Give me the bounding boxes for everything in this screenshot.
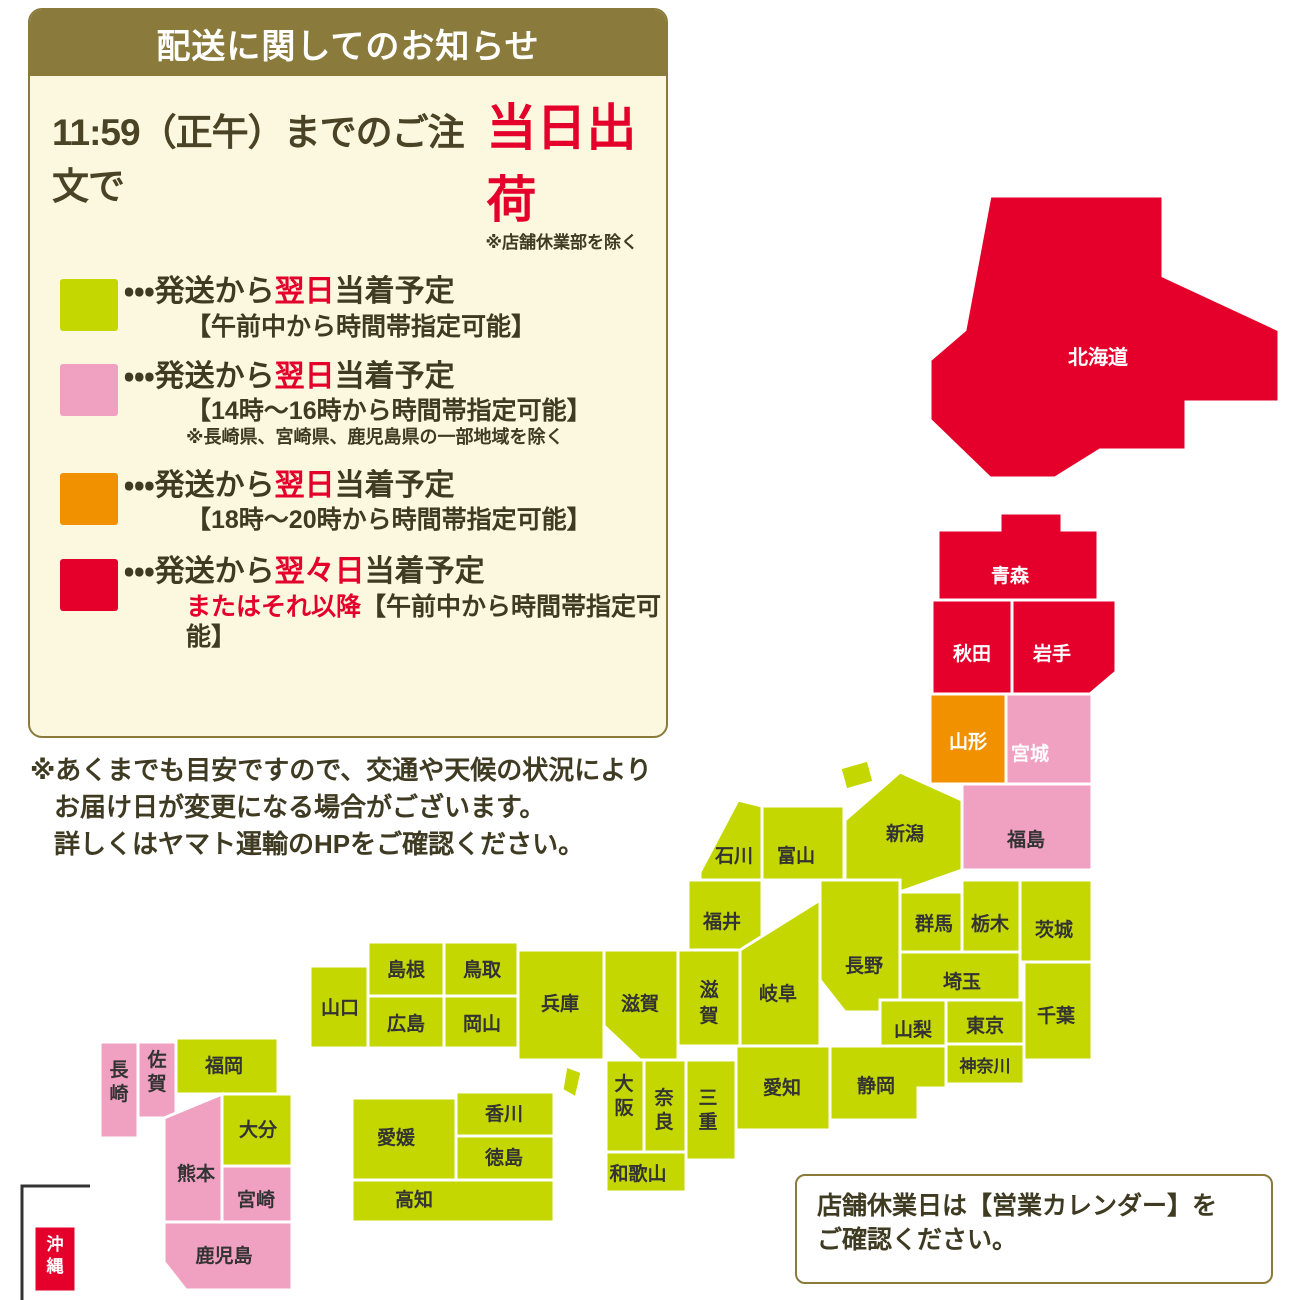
label-hokkaido: 北海道	[1068, 345, 1128, 369]
legend-sub-pink: 【14時〜16時から時間帯指定可能】	[124, 396, 592, 426]
label-yamanashi: 山梨	[894, 1018, 933, 1041]
legend-main-suffix-orange: 当着予定	[335, 469, 455, 502]
pref-shape-hokkaido[interactable]	[930, 196, 1279, 478]
label-yamaguchi: 山口	[321, 997, 359, 1019]
disclaimer-line3: 詳しくはヤマト運輸のHPをご確認ください。	[30, 826, 730, 863]
legend-swatch-orange	[60, 473, 118, 525]
calendar-notice-box[interactable]: 店舗休業日は【営業カレンダー】を ご確認ください。	[795, 1174, 1273, 1284]
label-toyama: 富山	[777, 845, 815, 867]
label-fukuoka: 福岡	[204, 1054, 243, 1077]
legend-sub-red-prefix: またはそれ以降	[186, 593, 361, 621]
legend-list: ・・・発送から翌日当着予定 【午前中から時間帯指定可能】 ・・・発送から翌日当着…	[30, 275, 666, 652]
label-tokushima: 徳島	[484, 1146, 523, 1169]
label-chiba: 千葉	[1037, 1005, 1076, 1027]
label-gunma: 群馬	[914, 912, 953, 935]
label-okayama: 岡山	[463, 1013, 501, 1035]
label-tokyo: 東京	[966, 1014, 1004, 1037]
pref-shape-toyama[interactable]	[762, 806, 844, 880]
disclaimer-line1: ※あくまでも目安ですので、交通や天候の状況により	[30, 755, 652, 785]
label-mie-2: 重	[698, 1111, 717, 1133]
pref-shape-nagano[interactable]	[820, 880, 900, 1012]
pref-shape-awaji[interactable]	[562, 1066, 582, 1098]
label-shimane: 島根	[387, 958, 426, 981]
label-kochi: 高知	[395, 1188, 433, 1211]
legend-main-suffix-pink: 当着予定	[335, 360, 455, 393]
legend-main-red: ・・・発送から翌々日当着予定	[124, 555, 666, 590]
label-kagoshima: 鹿児島	[195, 1244, 252, 1267]
legend-main-emph-green: 翌日	[275, 275, 335, 308]
label-oita: 大分	[239, 1118, 278, 1141]
label-kyoto: 滋賀	[621, 992, 659, 1015]
legend-sub-orange: 【18時〜20時から時間帯指定可能】	[124, 505, 592, 535]
pref-shape-miyagi[interactable]	[1006, 694, 1092, 784]
label-ibaraki: 茨城	[1035, 918, 1073, 941]
disclaimer: ※あくまでも目安ですので、交通や天候の状況により お届け日が変更になる場合がござ…	[30, 752, 730, 863]
legend-main-emph-orange: 翌日	[275, 469, 335, 502]
calendar-notice-line1: 店舗休業日は【営業カレンダー】を	[817, 1190, 1271, 1224]
legend-main-prefix-red: ・・・発送から	[124, 555, 275, 588]
pref-shape-kochi[interactable]	[352, 1180, 554, 1222]
label-hyogo: 兵庫	[541, 992, 579, 1015]
legend-sub2-pink: ※長崎県、宮崎県、鹿児島県の一部地域を除く	[124, 427, 592, 449]
legend-main-emph-red: 翌々日	[275, 555, 365, 588]
legend-swatch-red	[60, 559, 118, 611]
label-shizuoka: 静岡	[857, 1074, 895, 1097]
label-nara: 奈	[653, 1086, 674, 1109]
legend-row-green: ・・・発送から翌日当着予定 【午前中から時間帯指定可能】	[60, 275, 666, 342]
panel-header: 配送に関してのお知らせ	[30, 10, 666, 76]
label-miyagi: 宮城	[1011, 742, 1049, 765]
label-yamagata: 山形	[949, 731, 987, 753]
label-saga: 佐	[146, 1048, 166, 1071]
label-gifu: 岐阜	[759, 982, 797, 1005]
label-nara-2: 良	[654, 1110, 674, 1133]
headline-lead: 11:59（正午）までのご注文で	[52, 102, 486, 210]
label-niigata: 新潟	[885, 822, 924, 845]
legend-main-prefix-orange: ・・・発送から	[124, 469, 275, 502]
label-nagasaki-2: 崎	[109, 1082, 128, 1105]
legend-sub-red: またはそれ以降【午前中から時間帯指定可能】	[124, 592, 666, 652]
legend-main-prefix-pink: ・・・発送から	[124, 360, 275, 393]
legend-row-pink: ・・・発送から翌日当着予定 【14時〜16時から時間帯指定可能】 ※長崎県、宮崎…	[60, 360, 666, 449]
label-kumamoto: 熊本	[177, 1162, 216, 1185]
label-kanagawa: 神奈川	[959, 1056, 1011, 1076]
panel-title: 配送に関してのお知らせ	[156, 19, 539, 68]
pref-shape-fukushima[interactable]	[962, 784, 1092, 870]
label-shiga-2: 賀	[698, 1005, 718, 1027]
pref-shape-kumamoto[interactable]	[164, 1094, 222, 1222]
headline-note: ※店舗休業部を除く	[30, 228, 666, 253]
legend-main-green: ・・・発送から翌日当着予定	[124, 275, 536, 310]
label-osaka-2: 阪	[614, 1097, 634, 1119]
label-saitama: 埼玉	[943, 970, 981, 993]
legend-row-orange: ・・・発送から翌日当着予定 【18時〜20時から時間帯指定可能】	[60, 469, 666, 536]
legend-main-prefix-green: ・・・発送から	[124, 275, 275, 308]
label-okinawa-2: 縄	[46, 1256, 64, 1276]
label-aomori: 青森	[991, 564, 1030, 587]
legend-main-orange: ・・・発送から翌日当着予定	[124, 469, 592, 504]
label-tottori: 鳥取	[463, 958, 502, 981]
label-okinawa: 沖	[47, 1234, 64, 1254]
label-mie: 三	[698, 1088, 717, 1109]
label-fukushima: 福島	[1006, 828, 1045, 851]
label-hiroshima: 広島	[387, 1012, 425, 1035]
label-aichi: 愛知	[763, 1076, 801, 1099]
headline-emphasis: 当日出荷	[486, 88, 666, 232]
label-tochigi: 栃木	[971, 912, 1010, 935]
legend-row-red: ・・・発送から翌々日当着予定 またはそれ以降【午前中から時間帯指定可能】	[60, 555, 666, 652]
label-wakayama: 和歌山	[609, 1162, 666, 1185]
label-fukui: 福井	[702, 910, 741, 933]
label-miyazaki: 宮崎	[237, 1188, 275, 1211]
label-nagasaki: 長	[109, 1059, 129, 1081]
legend-swatch-green	[60, 279, 118, 331]
disclaimer-line2: お届け日が変更になる場合がございます。	[30, 789, 730, 826]
label-nagano: 長野	[845, 955, 883, 977]
legend-sub-green: 【午前中から時間帯指定可能】	[124, 312, 536, 342]
label-ehime: 愛媛	[377, 1127, 416, 1149]
legend-main-pink: ・・・発送から翌日当着予定	[124, 360, 592, 395]
label-osaka: 大	[614, 1072, 633, 1095]
pref-shape-mie[interactable]	[686, 1060, 736, 1160]
legend-main-suffix-red: 当着予定	[365, 555, 485, 588]
legend-swatch-pink	[60, 364, 118, 416]
headline: 11:59（正午）までのご注文で 当日出荷	[30, 88, 666, 232]
calendar-notice-line2: ご確認ください。	[817, 1224, 1271, 1258]
label-iwate: 岩手	[1032, 642, 1071, 665]
legend-main-emph-pink: 翌日	[275, 360, 335, 393]
label-saga-2: 賀	[146, 1073, 166, 1095]
pref-shape-sado[interactable]	[840, 760, 874, 790]
legend-main-suffix-green: 当着予定	[335, 275, 455, 308]
label-kagawa: 香川	[484, 1103, 523, 1125]
label-shiga: 滋	[699, 978, 718, 1001]
label-akita: 秋田	[953, 642, 991, 665]
delivery-info-panel: 配送に関してのお知らせ 11:59（正午）までのご注文で 当日出荷 ※店舗休業部…	[28, 8, 668, 738]
